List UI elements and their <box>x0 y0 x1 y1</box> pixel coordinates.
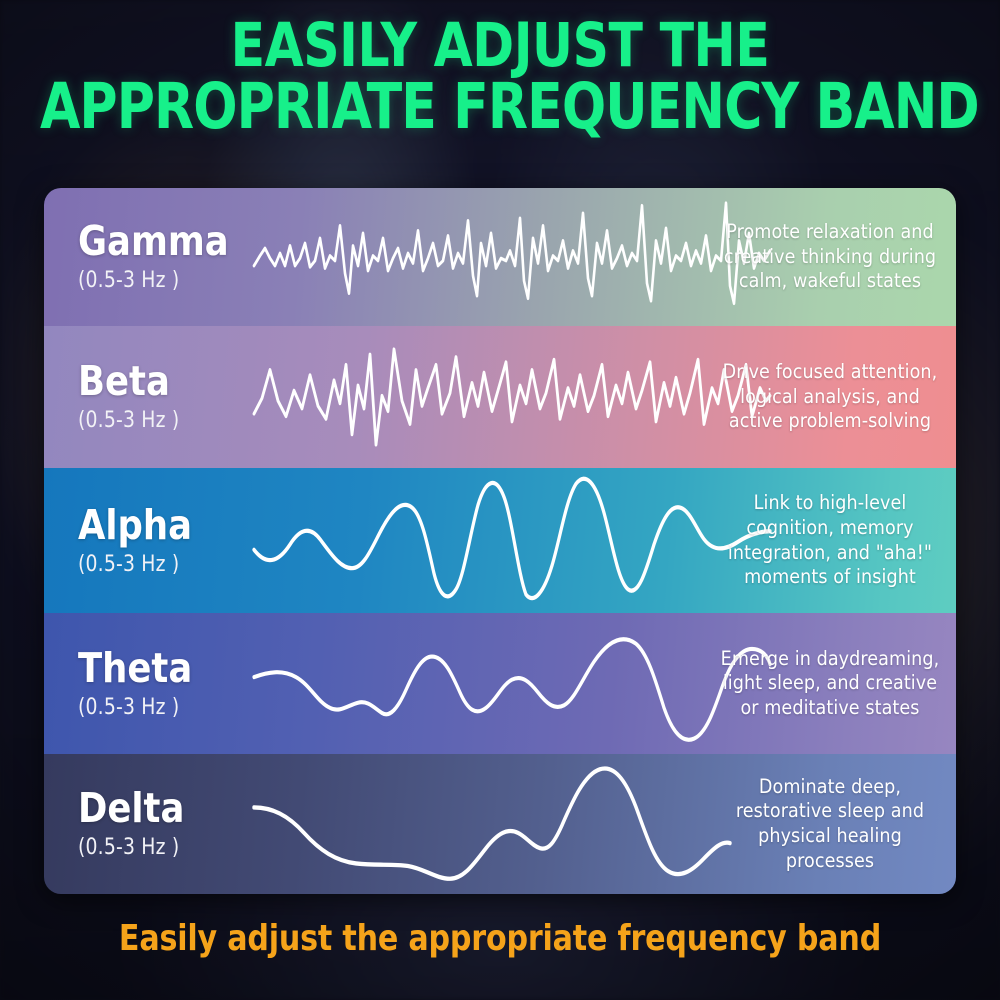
band-frequency-gamma: (0.5-3 Hz ) <box>78 268 249 293</box>
band-name-alpha: Alpha <box>78 505 251 546</box>
band-label-delta: Delta (0.5-3 Hz ) <box>70 754 258 894</box>
band-description-gamma: Promote relaxation and creative thinking… <box>714 188 946 326</box>
band-frequency-theta: (0.5-3 Hz ) <box>78 695 249 720</box>
band-description-beta: Drive focused attention, logical analysi… <box>714 326 946 468</box>
footer-caption: Easily adjust the appropriate frequency … <box>35 918 965 959</box>
waveform-theta <box>252 613 772 754</box>
band-name-gamma: Gamma <box>78 221 251 262</box>
band-frequency-delta: (0.5-3 Hz ) <box>78 835 249 860</box>
band-name-beta: Beta <box>78 361 251 402</box>
band-row-delta[interactable]: Delta (0.5-3 Hz ) Dominate deep, restora… <box>44 754 956 894</box>
band-frequency-alpha: (0.5-3 Hz ) <box>78 552 249 577</box>
waveform-alpha <box>252 468 772 613</box>
band-label-gamma: Gamma (0.5-3 Hz ) <box>70 188 258 326</box>
waveform-gamma <box>252 188 772 326</box>
waveform-beta <box>252 326 772 468</box>
band-frequency-beta: (0.5-3 Hz ) <box>78 408 249 433</box>
band-row-alpha[interactable]: Alpha (0.5-3 Hz ) Link to high-level cog… <box>44 468 956 613</box>
band-label-alpha: Alpha (0.5-3 Hz ) <box>70 468 258 613</box>
band-label-theta: Theta (0.5-3 Hz ) <box>70 613 258 754</box>
page-title-line-2: APPROPRIATE FREQUENCY BAND <box>40 76 960 138</box>
band-name-delta: Delta <box>78 788 251 829</box>
waveform-delta <box>252 754 772 894</box>
infographic-page: EASILY ADJUST THE APPROPRIATE FREQUENCY … <box>0 0 1000 1000</box>
band-label-beta: Beta (0.5-3 Hz ) <box>70 326 258 468</box>
band-row-theta[interactable]: Theta (0.5-3 Hz ) Emerge in daydreaming,… <box>44 613 956 754</box>
band-row-beta[interactable]: Beta (0.5-3 Hz ) Drive focused attention… <box>44 326 956 468</box>
band-description-delta: Dominate deep, restorative sleep and phy… <box>714 754 946 894</box>
page-title: EASILY ADJUST THE APPROPRIATE FREQUENCY … <box>40 16 960 138</box>
band-name-theta: Theta <box>78 648 251 689</box>
band-row-gamma[interactable]: Gamma (0.5-3 Hz ) Promote relaxation and… <box>44 188 956 326</box>
band-description-alpha: Link to high-level cognition, memory int… <box>714 468 946 613</box>
frequency-band-card: Gamma (0.5-3 Hz ) Promote relaxation and… <box>44 188 956 894</box>
band-description-theta: Emerge in daydreaming, light sleep, and … <box>714 613 946 754</box>
